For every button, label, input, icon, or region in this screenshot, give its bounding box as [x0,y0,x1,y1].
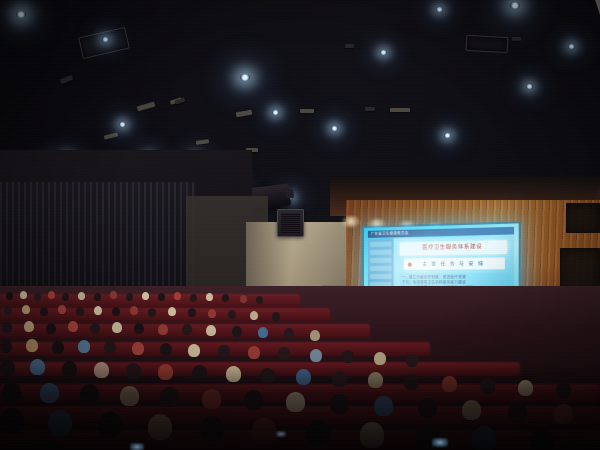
auditorium-photo: 广东省卫生健康委员会 医疗卫生服务体系建设 主 要 任 务 [0,0,600,450]
audience-head [222,294,229,302]
slide-sidebar-row [370,250,392,255]
foreground-shadow [0,364,600,450]
ceiling-downlight [102,37,109,42]
ceiling-downlight [510,2,520,9]
audience-head [26,339,38,352]
audience-head [188,344,200,357]
audience-head [58,305,66,314]
ceiling-downlight [331,126,338,131]
ceiling-downlight [16,11,26,18]
audience-head [132,342,144,355]
audience-head [94,306,102,315]
slide-subheading: 主 要 任 务 与 安 排 [404,257,505,269]
audience-head [6,292,13,300]
glowing-phone-screen[interactable] [432,438,448,447]
ceiling-downlight [436,7,443,12]
audience-head [134,323,144,334]
audience-head [284,328,294,339]
audience-head [310,330,320,341]
audience-head [0,340,12,353]
audience-head [232,326,242,337]
audience-head [158,324,168,335]
seat-row [0,308,330,322]
wall-mounted-loudspeaker [277,209,304,237]
audience-head [160,343,172,356]
slide-sidebar-row [370,274,392,279]
audience-head [94,293,101,301]
audience-head [40,307,48,316]
ceiling-fixture [512,37,521,41]
audience-seating [0,286,600,450]
audience-head [110,291,117,299]
ceiling-downlight [568,44,575,49]
seat-row [0,294,300,308]
audience-head [250,311,258,320]
ceiling-fixture [345,44,354,48]
audience-head [188,308,196,317]
audience-head [78,340,90,353]
ceiling-fixture [300,109,314,113]
ceiling-downlight [526,84,533,89]
audience-head [4,306,12,315]
audience-head [206,325,216,336]
slide-sidebar-row [370,266,392,271]
audience-head [158,293,165,301]
audience-head [310,349,322,362]
audience-head [20,291,27,299]
slide-sidebar-row [370,258,392,263]
ceiling-air-vent [466,35,509,53]
ceiling-downlight [380,50,387,55]
audience-head [46,323,56,334]
audience-head [342,350,354,363]
ceiling-downlight [240,74,250,81]
audience-head [22,305,30,314]
audience-head [148,308,156,317]
audience-head [34,293,41,301]
audience-head [112,307,120,316]
seat-row [0,342,430,356]
glowing-phone-screen[interactable] [276,431,286,437]
audience-head [52,341,64,354]
audience-head [208,309,216,318]
audience-head [76,307,84,316]
audience-head [206,293,213,301]
audience-head [240,295,247,303]
slide-sidebar-row [370,241,392,246]
audience-head [182,324,192,335]
audience-head [142,292,149,300]
audience-head [62,293,69,301]
slide-subheading-text: 主 要 任 务 与 安 排 [404,257,505,269]
audience-head [68,321,78,332]
audience-head [24,321,34,332]
audience-head [190,294,197,302]
audience-head [104,341,116,354]
glowing-phone-screen[interactable] [130,443,144,450]
slide-heading-text: 医疗卫生服务体系建设 [400,240,508,256]
audience-head [130,306,138,315]
audience-head [278,347,290,360]
ceiling-fixture [390,108,410,112]
audience-head [228,310,236,319]
audience-head [112,322,122,333]
audience-head [256,296,263,304]
audience-head [218,345,230,358]
audience-head [126,293,133,301]
ceiling-downlight [444,133,451,138]
audience-head [272,312,280,321]
audience-head [90,323,100,334]
audience-head [78,292,85,300]
audience-head [168,307,176,316]
ceiling-downlight [119,122,126,127]
audience-head [258,327,268,338]
ceiling-fixture [365,107,375,111]
ceiling-downlight [272,110,279,115]
audience-head [174,292,181,300]
audience-head [48,291,55,299]
audience-head [248,346,260,359]
slide-heading: 医疗卫生服务体系建设 [400,240,508,256]
audience-head [2,322,12,333]
